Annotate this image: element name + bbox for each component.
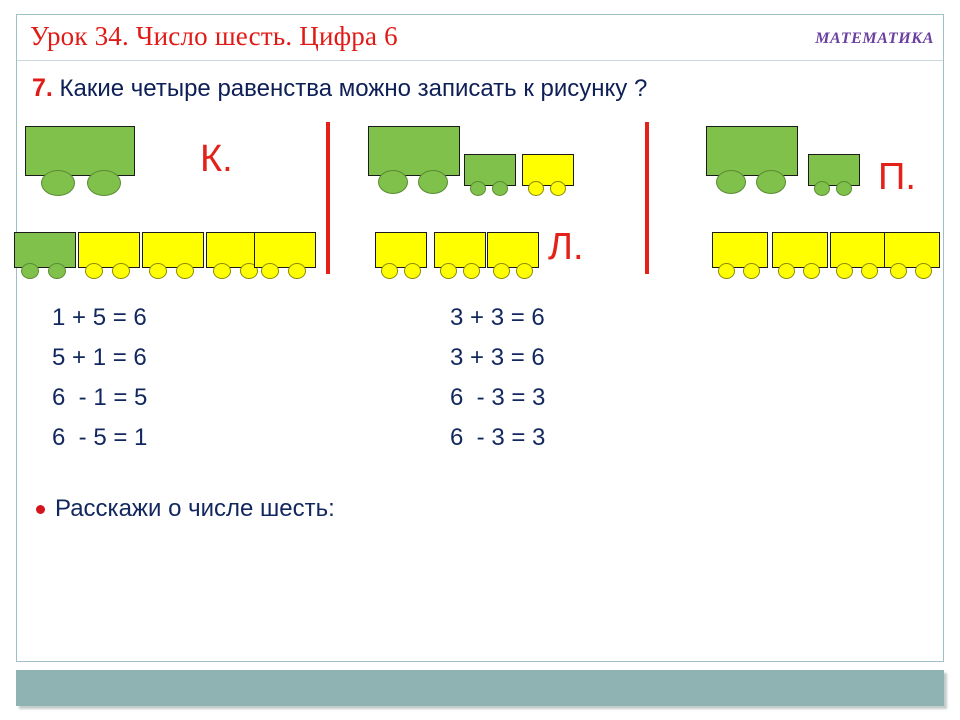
equation-row: 6 - 3 = 3 — [450, 378, 545, 418]
car-wheel — [213, 263, 231, 279]
car-wheel — [378, 170, 408, 194]
car-wheel — [176, 263, 194, 279]
equations-column-right: 3 + 3 = 6 3 + 3 = 6 6 - 3 = 3 6 - 3 = 3 — [450, 298, 545, 458]
car-wheel — [41, 170, 75, 196]
question-number: 7. — [32, 74, 53, 102]
train-car — [375, 232, 427, 280]
car-wheel — [85, 263, 103, 279]
car-wheel — [836, 181, 852, 196]
train-car — [487, 232, 539, 280]
car-wheel — [149, 263, 167, 279]
car-wheel — [492, 181, 508, 196]
lesson-title: Урок 34. Число шесть. Цифра 6 — [30, 21, 398, 52]
car-wheel — [381, 263, 398, 279]
car-body — [772, 232, 828, 268]
equation-row: 6 - 1 = 5 — [52, 378, 147, 418]
car-wheel — [87, 170, 121, 196]
car-body — [706, 126, 798, 176]
group-label-1: К. — [200, 140, 233, 178]
car-wheel — [261, 263, 279, 279]
train-car — [772, 232, 828, 280]
car-wheel — [743, 263, 760, 279]
group-divider-1 — [326, 122, 330, 274]
car-wheel — [861, 263, 878, 279]
header-divider — [17, 60, 943, 61]
group-label-3: П. — [878, 158, 916, 196]
footer-bar — [16, 670, 944, 706]
car-body — [464, 154, 516, 186]
car-wheel — [404, 263, 421, 279]
car-body — [254, 232, 316, 268]
car-wheel — [470, 181, 486, 196]
group-divider-2 — [645, 122, 649, 274]
equations-column-left: 1 + 5 = 6 5 + 1 = 6 6 - 1 = 5 6 - 5 = 1 — [52, 298, 147, 458]
train-car — [464, 154, 516, 196]
car-wheel — [716, 170, 746, 194]
car-wheel — [493, 263, 510, 279]
car-wheel — [528, 181, 544, 196]
car-body — [368, 126, 460, 176]
car-wheel — [756, 170, 786, 194]
train-car — [254, 232, 316, 280]
train-locomotive — [706, 126, 798, 190]
group-label-2: Л. — [548, 228, 584, 266]
car-body — [712, 232, 768, 268]
car-body — [14, 232, 76, 268]
equation-row: 1 + 5 = 6 — [52, 298, 147, 338]
car-wheel — [890, 263, 907, 279]
car-wheel — [288, 263, 306, 279]
subject-tag: МАТЕМАТИКА — [815, 30, 934, 48]
car-body — [25, 126, 135, 176]
car-wheel — [550, 181, 566, 196]
bullet-line: Расскажи о числе шесть: — [36, 495, 335, 523]
train-car — [78, 232, 140, 280]
car-body — [808, 154, 860, 186]
bullet-text: Расскажи о числе шесть: — [55, 495, 335, 523]
question-line: 7. Какие четыре равенства можно записать… — [32, 74, 647, 103]
car-body — [487, 232, 539, 268]
slide-canvas: Урок 34. Число шесть. Цифра 6 МАТЕМАТИКА… — [0, 0, 960, 720]
car-wheel — [718, 263, 735, 279]
car-wheel — [836, 263, 853, 279]
train-car — [14, 232, 76, 280]
train-car — [712, 232, 768, 280]
car-wheel — [21, 263, 39, 279]
car-body — [522, 154, 574, 186]
car-body — [830, 232, 886, 268]
equation-row: 5 + 1 = 6 — [52, 338, 147, 378]
question-text: Какие четыре равенства можно записать к … — [60, 75, 648, 102]
equation-row: 6 - 3 = 3 — [450, 418, 545, 458]
car-wheel — [418, 170, 448, 194]
equation-row: 6 - 5 = 1 — [52, 418, 147, 458]
car-wheel — [463, 263, 480, 279]
bullet-dot-icon — [36, 505, 45, 514]
train-car — [434, 232, 486, 280]
train-car — [142, 232, 204, 280]
train-car — [522, 154, 574, 196]
car-body — [142, 232, 204, 268]
car-wheel — [516, 263, 533, 279]
car-wheel — [803, 263, 820, 279]
equation-row: 3 + 3 = 6 — [450, 298, 545, 338]
car-wheel — [814, 181, 830, 196]
car-body — [884, 232, 940, 268]
equation-row: 3 + 3 = 6 — [450, 338, 545, 378]
train-car — [884, 232, 940, 280]
car-wheel — [440, 263, 457, 279]
train-locomotive — [25, 126, 135, 190]
train-car — [830, 232, 886, 280]
car-body — [375, 232, 427, 268]
car-body — [434, 232, 486, 268]
car-wheel — [915, 263, 932, 279]
train-picture-area: К. — [0, 110, 960, 285]
car-wheel — [778, 263, 795, 279]
car-wheel — [48, 263, 66, 279]
train-locomotive — [368, 126, 460, 190]
car-body — [78, 232, 140, 268]
car-wheel — [112, 263, 130, 279]
train-car — [808, 154, 860, 196]
